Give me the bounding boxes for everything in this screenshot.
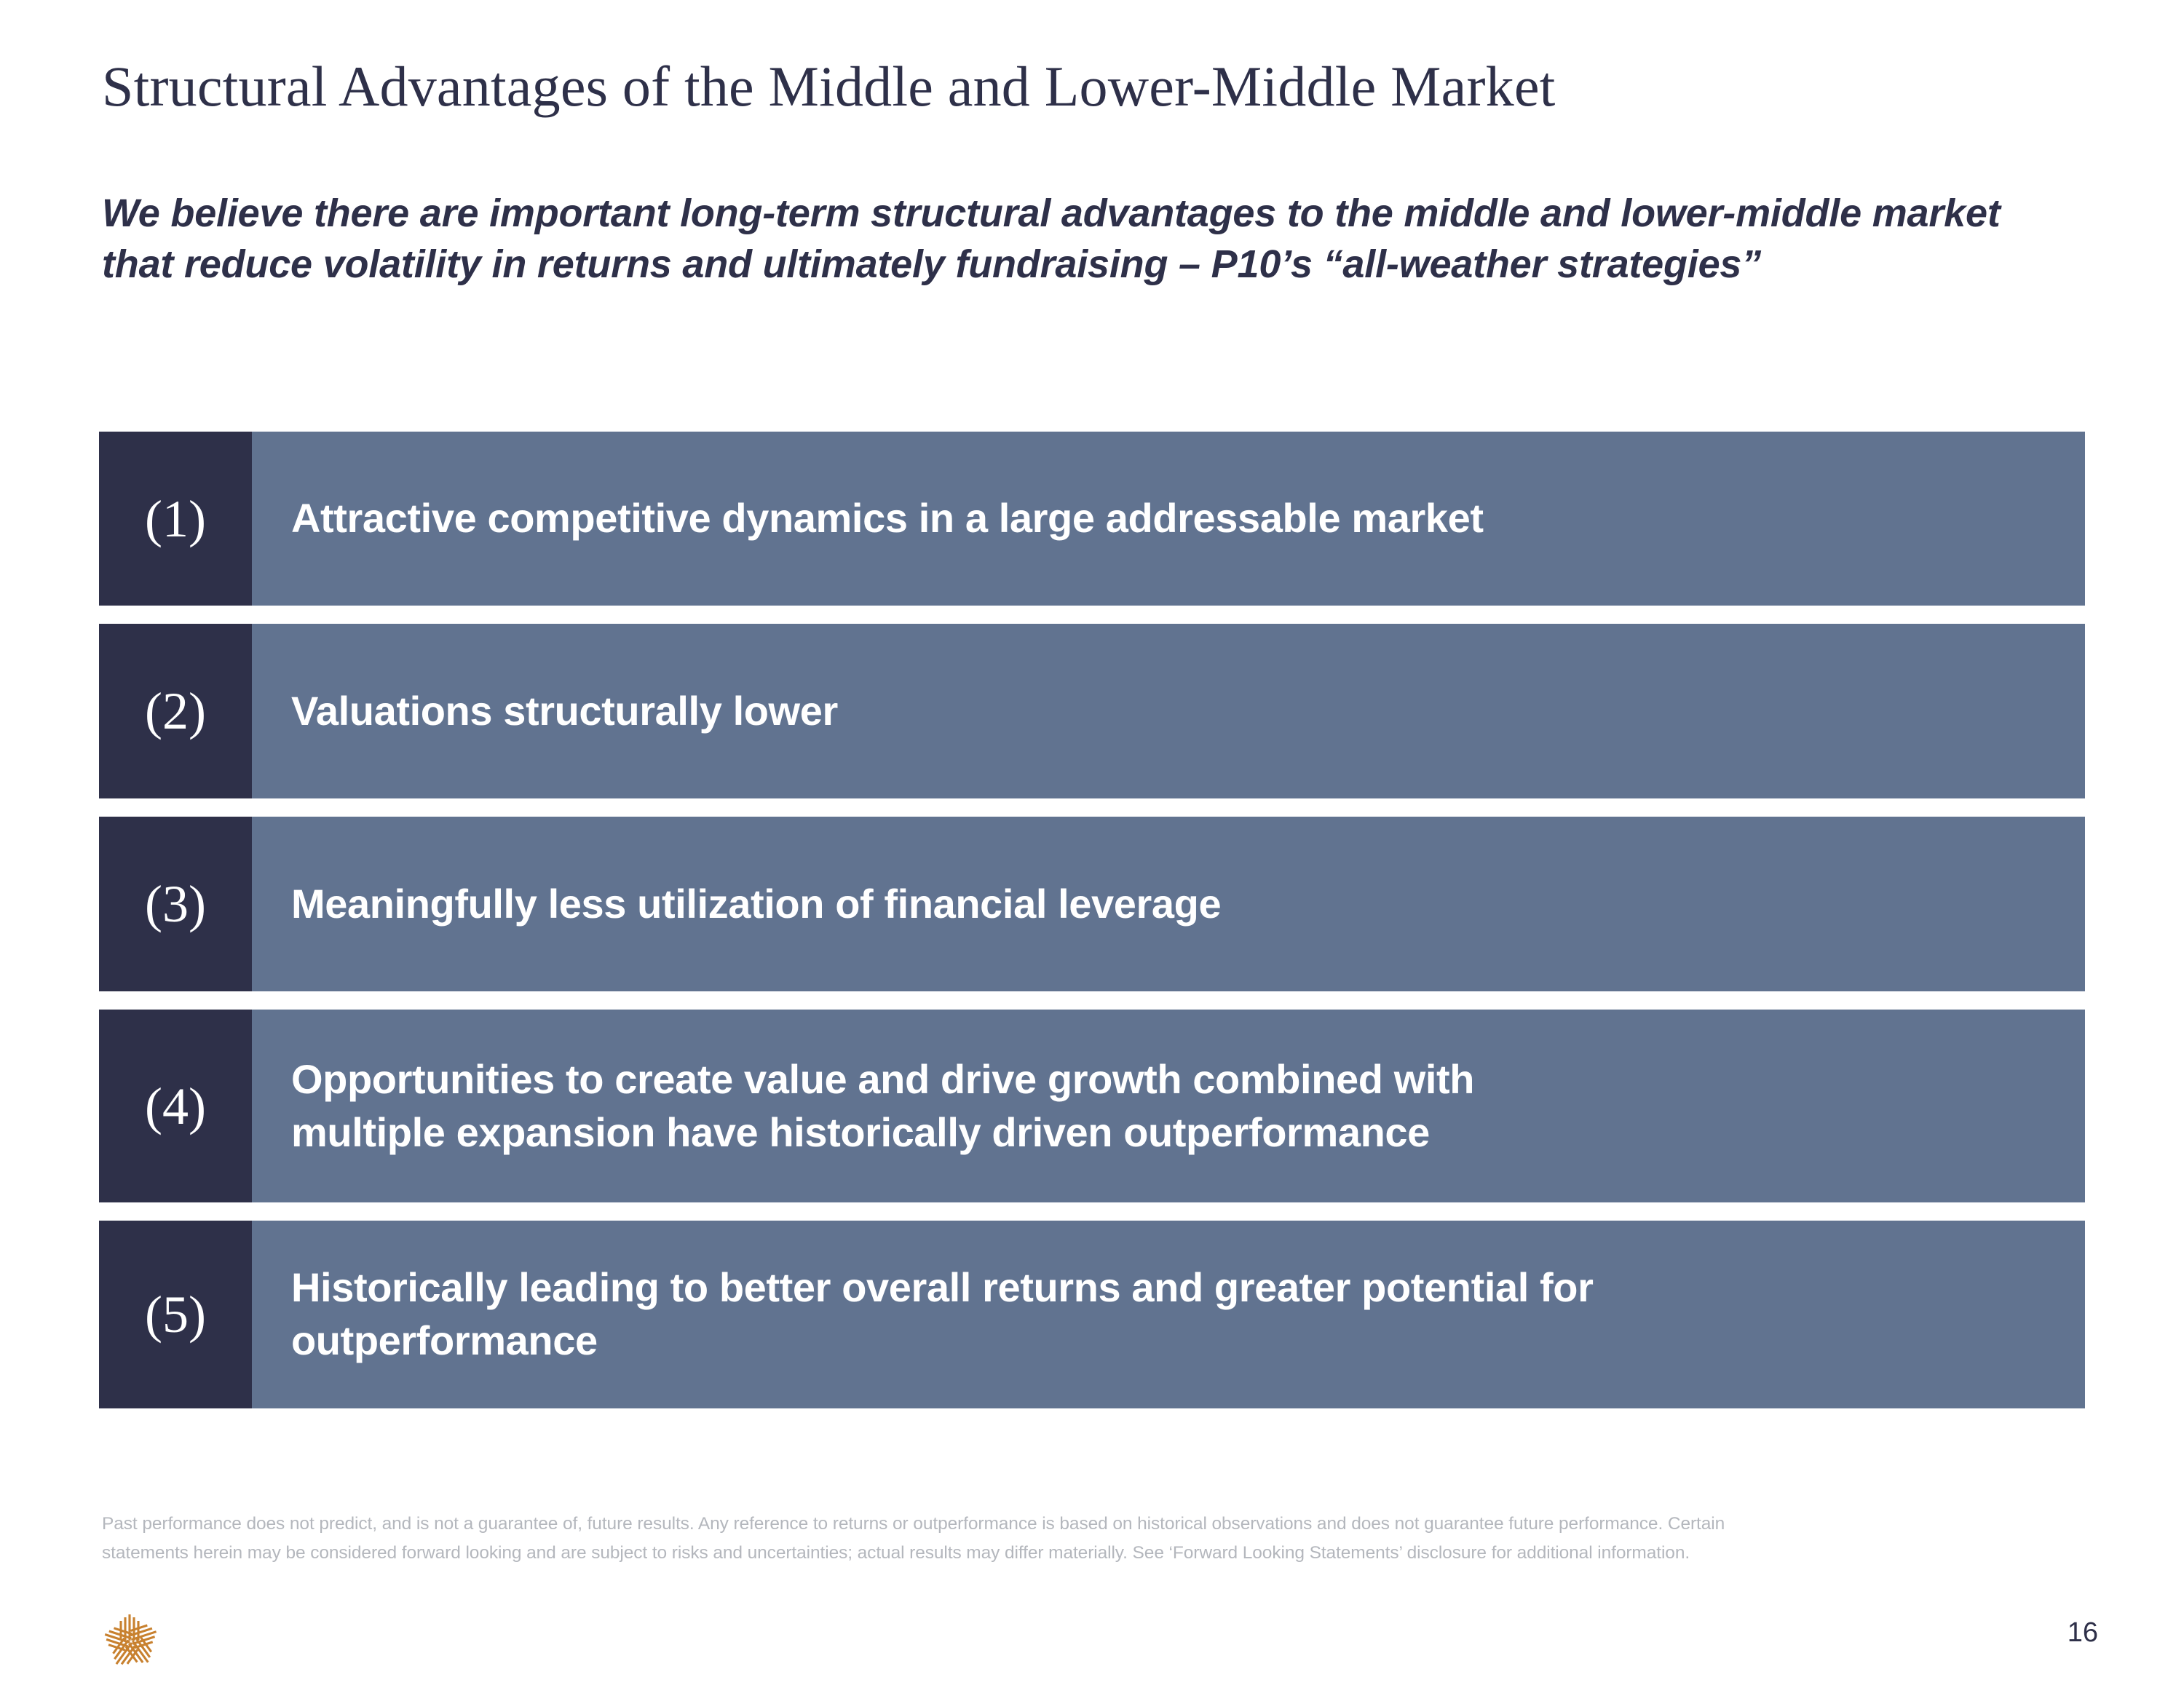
- pinwheel-icon: [87, 1610, 175, 1673]
- footnote-line-2: statements herein may be considered forw…: [102, 1539, 2097, 1568]
- page-title: Structural Advantages of the Middle and …: [102, 57, 2068, 117]
- disclaimer-footnote: Past performance does not predict, and i…: [102, 1510, 2097, 1567]
- p10-logo: [87, 1610, 175, 1673]
- item-body: Meaningfully less utilization of financi…: [252, 817, 2085, 991]
- item-number-badge: (2): [99, 624, 252, 798]
- list-item: (5) Historically leading to better overa…: [99, 1221, 2085, 1408]
- item-line: multiple expansion have historically dri…: [291, 1109, 1430, 1155]
- slide-canvas: Structural Advantages of the Middle and …: [0, 0, 2184, 1685]
- item-number-badge: (3): [99, 817, 252, 991]
- item-line: Meaningfully less utilization of financi…: [291, 881, 1221, 927]
- page-number: 16: [2068, 1617, 2098, 1649]
- advantages-list: (1) Attractive competitive dynamics in a…: [99, 432, 2085, 1408]
- list-item: (2) Valuations structurally lower: [99, 624, 2085, 798]
- item-body: Historically leading to better overall r…: [252, 1221, 2085, 1408]
- slide-subtitle: We believe there are important long-term…: [102, 188, 2053, 290]
- item-body: Attractive competitive dynamics in a lar…: [252, 432, 2085, 606]
- item-body: Opportunities to create value and drive …: [252, 1010, 2085, 1202]
- list-item: (4) Opportunities to create value and dr…: [99, 1010, 2085, 1202]
- item-line: outperformance: [291, 1317, 598, 1363]
- list-item: (3) Meaningfully less utilization of fin…: [99, 817, 2085, 991]
- item-number-badge: (4): [99, 1010, 252, 1202]
- footnote-line-1: Past performance does not predict, and i…: [102, 1510, 2097, 1539]
- item-number-badge: (1): [99, 432, 252, 606]
- item-line: Attractive competitive dynamics in a lar…: [291, 495, 1484, 541]
- item-line: Historically leading to better overall r…: [291, 1264, 1594, 1310]
- item-line: Opportunities to create value and drive …: [291, 1056, 1474, 1102]
- item-body: Valuations structurally lower: [252, 624, 2085, 798]
- item-number-badge: (5): [99, 1221, 252, 1408]
- item-line: Valuations structurally lower: [291, 688, 838, 734]
- list-item: (1) Attractive competitive dynamics in a…: [99, 432, 2085, 606]
